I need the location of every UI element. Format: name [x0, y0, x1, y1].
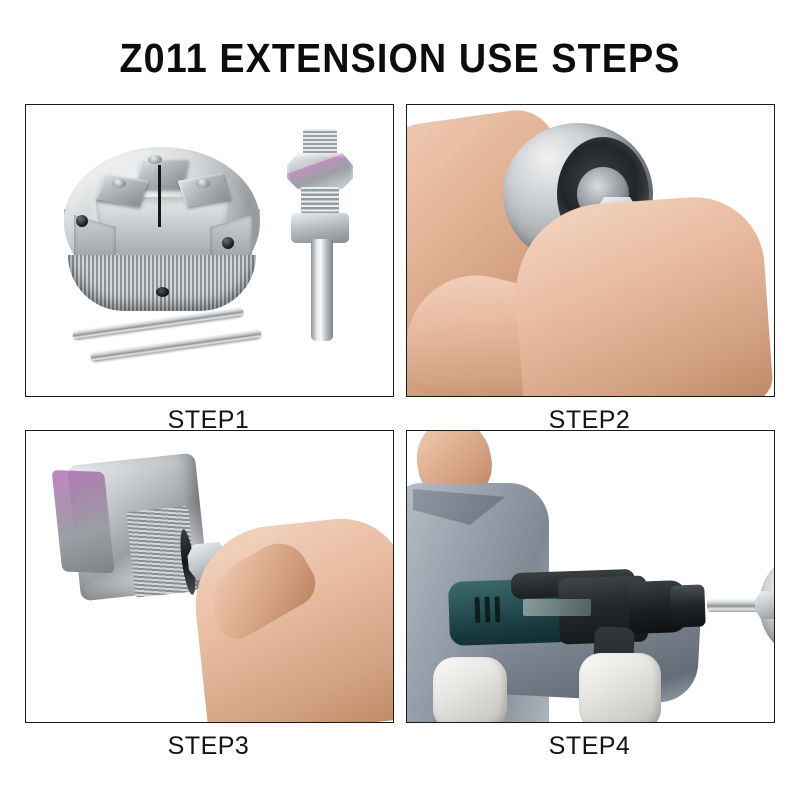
tommy-bar-2 [90, 329, 262, 362]
drill-vent-3 [494, 596, 500, 622]
chuck-knurled-band [68, 255, 256, 311]
step1-image [25, 104, 394, 397]
steps-grid: STEP1 STEP2 [25, 104, 775, 737]
chuck-jaw-slot [158, 165, 161, 227]
drill-mode-selector [523, 599, 591, 616]
arbor-adapter [281, 129, 359, 341]
step-cell-3: STEP3 [25, 430, 394, 761]
arbor-hex-nut [287, 153, 353, 189]
drill-vent-1 [474, 597, 480, 623]
instruction-sheet: Z011 EXTENSION USE STEPS [0, 0, 800, 800]
chuck-assembly [759, 553, 775, 657]
jaw-bolt-2 [112, 179, 126, 188]
arbor-hex-nut [755, 591, 775, 619]
work-glove-right [579, 653, 661, 723]
drill-vent-2 [484, 597, 490, 623]
arbor-thread-top [303, 129, 337, 155]
chuck-key-hole-left [76, 215, 88, 227]
step4-image [406, 430, 775, 723]
step-cell-4: STEP4 [406, 430, 775, 761]
step2-image [406, 104, 775, 397]
step3-image [25, 430, 394, 723]
step-cell-2: STEP2 [406, 104, 775, 435]
work-glove-left [433, 657, 507, 723]
step-cell-1: STEP1 [25, 104, 394, 435]
knurl-set-screw-hole [156, 287, 169, 297]
chuck-jaws [52, 470, 115, 573]
page-title: Z011 EXTENSION USE STEPS [32, 34, 768, 82]
chuck-key-hole-right [222, 237, 234, 249]
jaw-bolt-3 [196, 179, 210, 188]
step4-caption: STEP4 [406, 732, 773, 761]
right-hand [510, 193, 774, 397]
step3-caption: STEP3 [25, 732, 392, 761]
jaw-bolt-1 [148, 155, 162, 164]
drill-chuck [670, 584, 705, 627]
arbor-shank [311, 239, 333, 341]
